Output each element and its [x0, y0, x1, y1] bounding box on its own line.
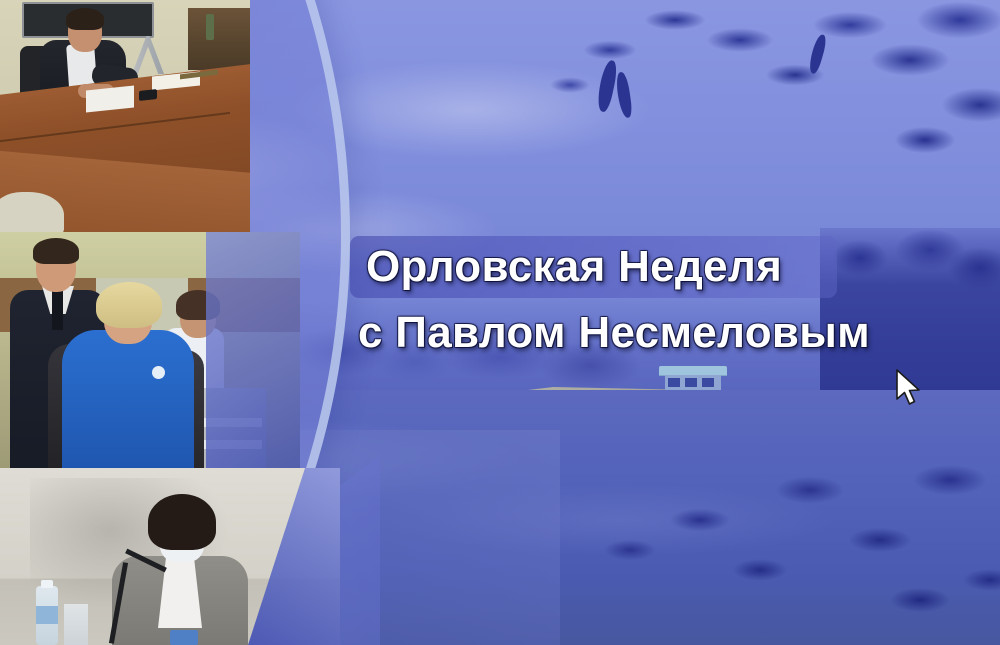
phone-on-table	[139, 89, 157, 101]
bottle-on-shelf	[206, 14, 214, 40]
speaker-hair	[148, 494, 216, 550]
screenshot-stage: Орловская Неделя с Павлом Несмеловым	[0, 0, 1000, 645]
person-hair	[66, 8, 104, 30]
man-tie	[52, 290, 63, 330]
program-title-block: Орловская Неделя с Павлом Несмеловым	[340, 232, 940, 380]
program-title-line-1: Орловская Неделя	[366, 242, 782, 292]
vest-badge	[152, 366, 165, 379]
water-bottle-label	[36, 606, 58, 624]
name-badge	[170, 630, 198, 645]
wooden-shelf	[188, 8, 250, 70]
photo-woman-with-mask-at-podium	[0, 468, 340, 645]
drinking-glass	[64, 604, 88, 645]
water-bottle-cap	[41, 580, 53, 588]
photo-official-at-conference-table	[0, 0, 250, 232]
photo-strip	[0, 0, 340, 645]
photo-woman-in-blue-vest	[0, 232, 300, 468]
man-hair	[33, 238, 79, 264]
photo-blue-overlay	[206, 232, 300, 468]
woman-blue-vest	[62, 330, 194, 468]
woman-hair	[96, 282, 162, 328]
program-title-line-2: с Павлом Несмеловым	[358, 308, 870, 358]
